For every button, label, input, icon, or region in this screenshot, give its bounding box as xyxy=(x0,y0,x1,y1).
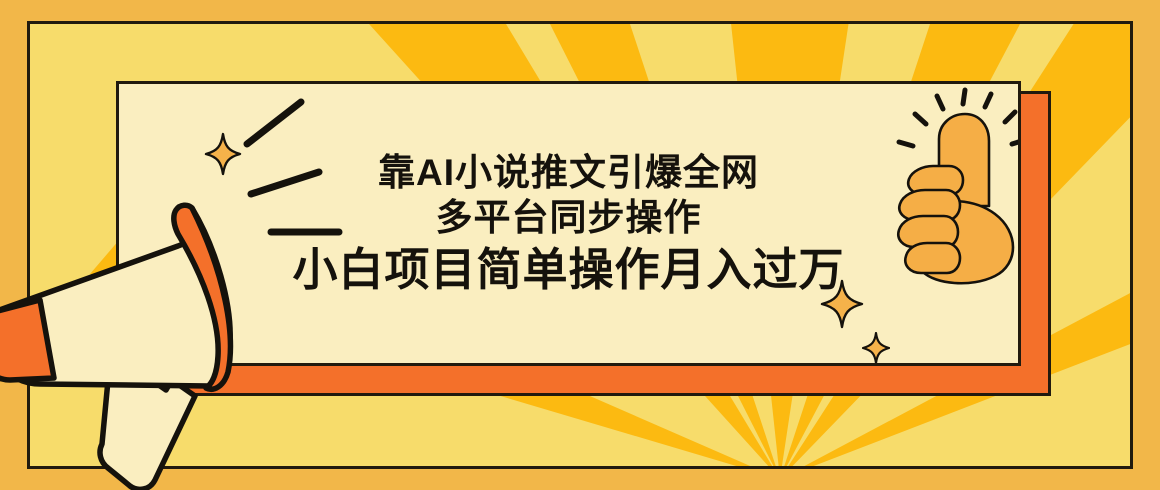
megaphone-sound-lines xyxy=(229,84,409,264)
poster-frame: 靠AI小说推文引爆全网 多平台同步操作 小白项目简单操作月入过万 xyxy=(27,21,1133,469)
sparkle-star-icon xyxy=(862,332,890,364)
sparkle-star-icon xyxy=(819,279,865,329)
content-card: 靠AI小说推文引爆全网 多平台同步操作 小白项目简单操作月入过万 xyxy=(116,81,1021,366)
thumbs-up-icon xyxy=(879,84,1021,299)
promo-poster: 靠AI小说推文引爆全网 多平台同步操作 小白项目简单操作月入过万 xyxy=(0,0,1160,490)
headline-line-2: 多平台同步操作 xyxy=(436,197,702,238)
headline-line-1: 靠AI小说推文引爆全网 xyxy=(378,152,759,193)
